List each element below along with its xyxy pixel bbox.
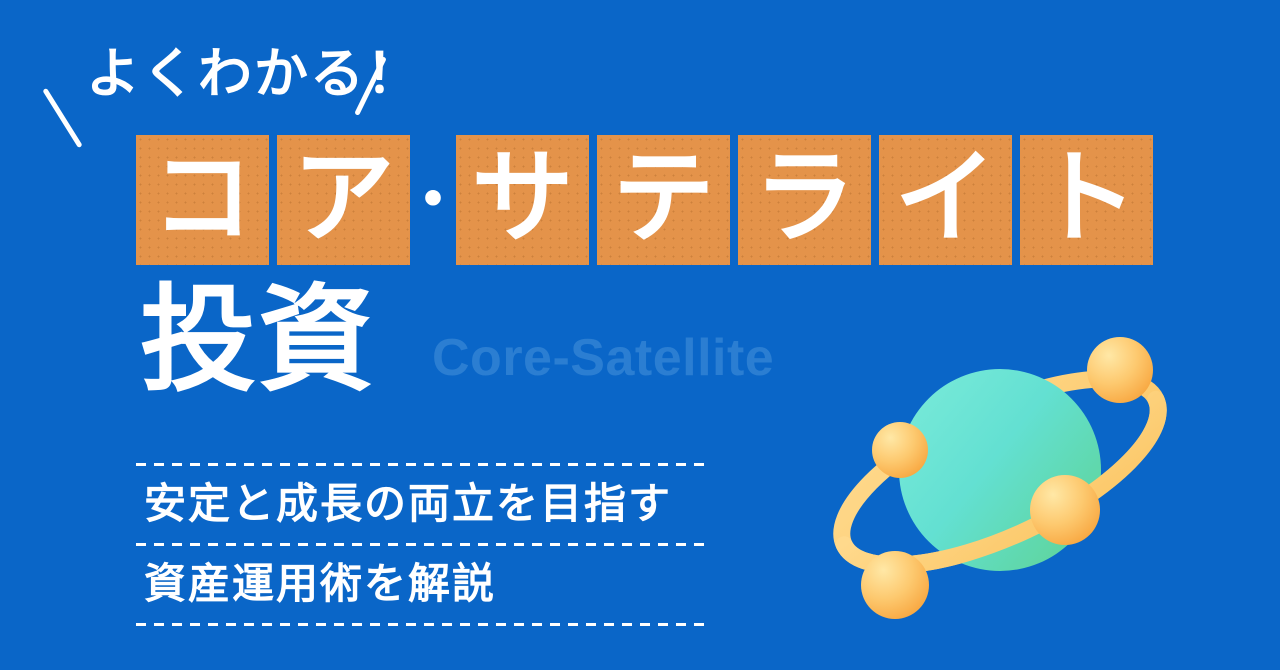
subcopy-group: 安定と成長の両立を目指す 資産運用術を解説 <box>136 463 710 626</box>
satellite-bottom-left <box>861 551 929 619</box>
headline-kanji: 投資 <box>140 282 376 398</box>
eyebrow-group: よくわかる！ <box>0 44 440 132</box>
headline-box-char-7: ト <box>1020 135 1153 265</box>
headline-box-char-3: サ <box>456 135 589 265</box>
headline-second-row: 投資 Core-Satellite <box>140 282 774 398</box>
satellite-right <box>1030 475 1100 545</box>
headline-romaji: Core-Satellite <box>432 332 774 384</box>
eyebrow-text: よくわかる！ <box>86 46 422 103</box>
headline-separator: ・ <box>418 135 448 265</box>
headline-box-char-2: ア <box>277 135 410 265</box>
satellite-top-right <box>1087 337 1153 403</box>
subcopy-line-1: 安定と成長の両立を目指す <box>136 466 710 543</box>
headline-box-char-4-label: テ <box>613 147 715 249</box>
headline-box-char-6-label: イ <box>895 147 997 249</box>
poster-canvas: よくわかる！ コ ア ・ サ テ ラ イ ト 投資 Core-Satellite <box>0 0 1280 670</box>
headline-box-char-2-label: ア <box>293 147 395 249</box>
slash-left-icon <box>42 88 82 148</box>
headline-box-char-1-label: コ <box>152 147 254 249</box>
headline-box-char-5: ラ <box>738 135 871 265</box>
planet-illustration <box>800 320 1200 650</box>
dashed-rule-bottom <box>136 623 710 626</box>
satellite-left <box>872 422 928 478</box>
headline-box-char-3-label: サ <box>472 147 574 249</box>
headline-box-char-5-label: ラ <box>754 147 856 249</box>
headline-box-char-1: コ <box>136 135 269 265</box>
headline-boxed-row: コ ア ・ サ テ ラ イ ト <box>136 135 1161 265</box>
headline-box-char-4: テ <box>597 135 730 265</box>
subcopy-line-2: 資産運用術を解説 <box>136 546 710 623</box>
headline-box-char-6: イ <box>879 135 1012 265</box>
headline-box-char-7-label: ト <box>1036 147 1138 249</box>
